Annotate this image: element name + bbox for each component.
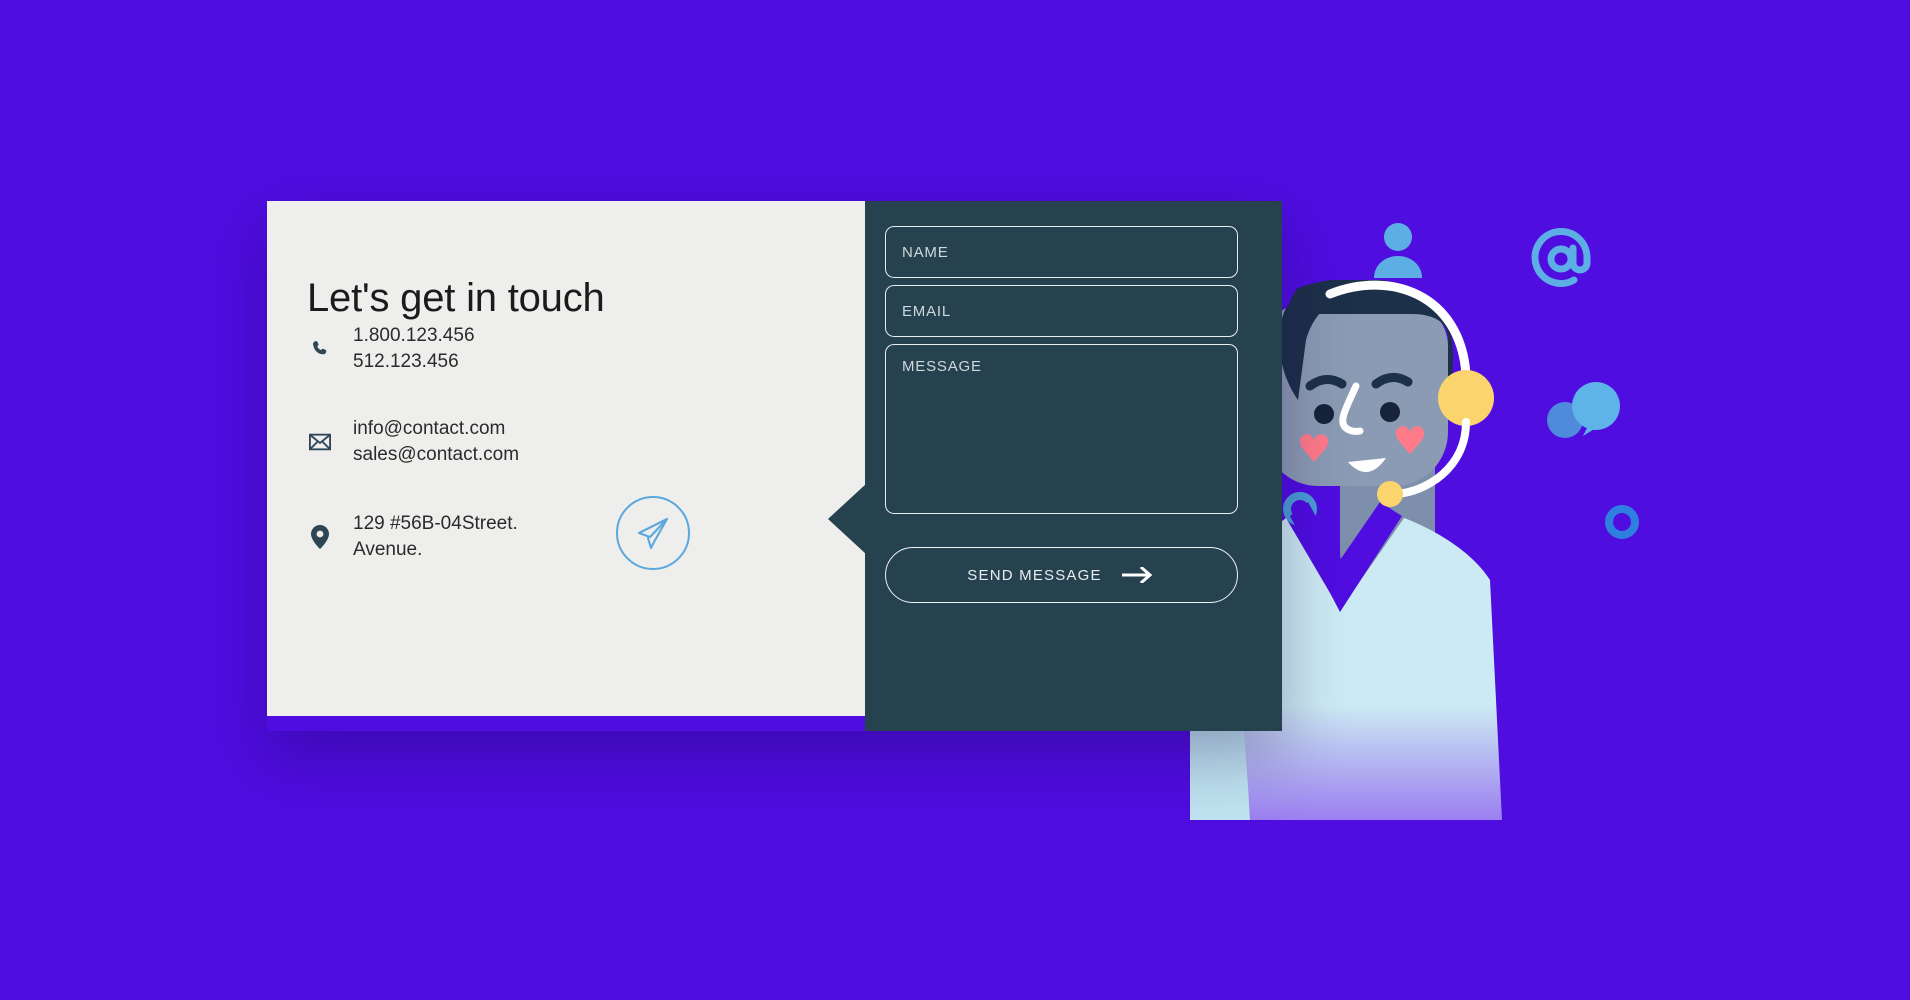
arrow-right-icon	[1122, 567, 1156, 583]
person-icon	[1372, 222, 1424, 278]
name-input[interactable]	[885, 226, 1238, 278]
email-input[interactable]	[885, 285, 1238, 337]
contact-form-panel: SEND MESSAGE	[865, 201, 1282, 731]
send-message-label: SEND MESSAGE	[967, 567, 1101, 584]
phone-line-2: 512.123.456	[353, 349, 475, 375]
contact-card: SEND MESSAGE Let's get in touch 1.800.12…	[267, 201, 1282, 731]
phone-icon	[303, 339, 337, 359]
contact-info-panel: Let's get in touch 1.800.123.456 512.123…	[267, 201, 865, 716]
send-badge-button[interactable]	[616, 496, 690, 570]
envelope-icon	[303, 433, 337, 451]
contact-row-address: 129 #56B-04Street. Avenue.	[303, 511, 518, 563]
phone-line-1: 1.800.123.456	[353, 323, 475, 349]
location-pin-icon	[303, 525, 337, 549]
contact-row-phone: 1.800.123.456 512.123.456	[303, 323, 475, 375]
email-line-2: sales@contact.com	[353, 442, 519, 468]
address-line-2: Avenue.	[353, 537, 518, 563]
paper-plane-icon	[634, 514, 672, 552]
email-line-1: info@contact.com	[353, 416, 519, 442]
page-title: Let's get in touch	[307, 276, 605, 321]
send-message-button[interactable]: SEND MESSAGE	[885, 547, 1238, 603]
contact-row-email: info@contact.com sales@contact.com	[303, 416, 519, 468]
message-textarea[interactable]	[885, 344, 1238, 514]
address-line-1: 129 #56B-04Street.	[353, 511, 518, 537]
page-canvas: SEND MESSAGE Let's get in touch 1.800.12…	[0, 0, 1910, 1000]
